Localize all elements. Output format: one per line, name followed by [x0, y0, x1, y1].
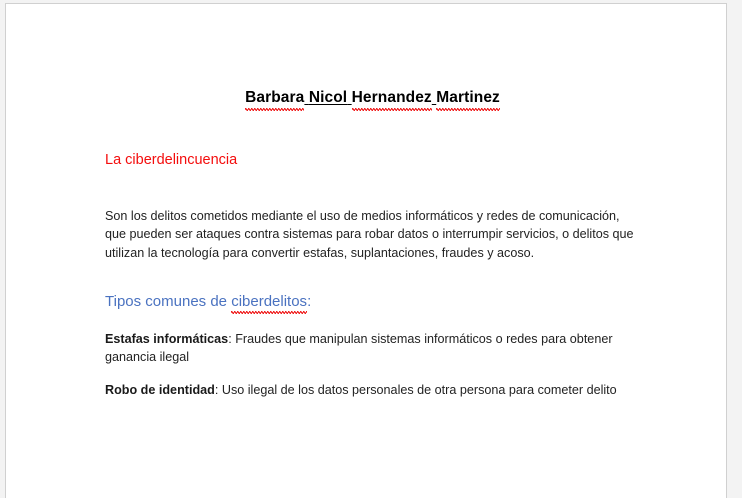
paragraph-definition-ciberdelincuencia: Son los delitos cometidos mediante el us…	[105, 169, 640, 263]
title-word-misspelled-barbara: Barbara	[245, 89, 304, 108]
definition-item-robo-de-identidad: Robo de identidad: Uso ilegal de los dat…	[105, 366, 640, 399]
document-page[interactable]: Barbara Nicol Hernandez Martinez La cibe…	[5, 3, 727, 498]
heading-ciberdelincuencia: La ciberdelincuencia	[105, 108, 640, 169]
title-word-misspelled-hernandez: Hernandez	[352, 89, 432, 108]
title-word-nicol: Nicol	[309, 89, 347, 106]
definition-separator: :	[215, 383, 222, 397]
document-title: Barbara Nicol Hernandez Martinez	[105, 4, 640, 108]
definition-description: Uso ilegal de los datos personales de ot…	[222, 383, 617, 397]
document-text-body[interactable]: Barbara Nicol Hernandez Martinez La cibe…	[105, 4, 640, 400]
heading-blue-prefix: Tipos comunes de	[105, 293, 231, 310]
heading-tipos-comunes: Tipos comunes de ciberdelitos:	[105, 262, 640, 312]
title-word-misspelled-martinez: Martinez	[436, 89, 500, 108]
heading-blue-misspelled-ciberdelitos: ciberdelitos	[231, 293, 307, 312]
definition-term: Robo de identidad	[105, 383, 215, 397]
definition-item-estafas-informaticas: Estafas informáticas: Fraudes que manipu…	[105, 312, 640, 367]
definition-term: Estafas informáticas	[105, 332, 228, 346]
heading-blue-suffix: :	[307, 293, 311, 310]
